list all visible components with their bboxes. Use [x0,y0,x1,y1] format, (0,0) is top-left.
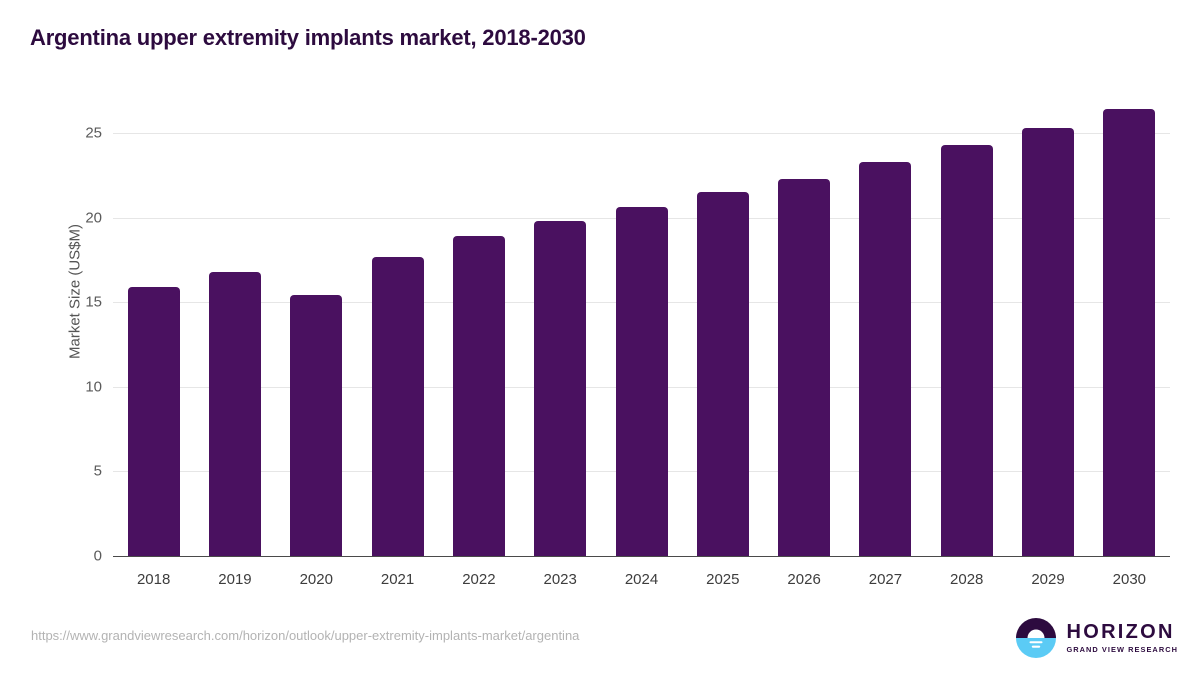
bar-2021[interactable] [372,257,424,556]
x-axis-tick-label-2026: 2026 [787,571,820,588]
bar-2027[interactable] [859,162,911,556]
bar-2023[interactable] [534,221,586,556]
x-axis-tick-label-2018: 2018 [137,571,170,588]
x-axis-tick-label-2020: 2020 [300,571,333,588]
bar-2018[interactable] [128,287,180,556]
x-axis-tick-label-2023: 2023 [544,571,577,588]
x-axis-tick-label-2028: 2028 [950,571,983,588]
x-axis-tick-label-2030: 2030 [1113,571,1146,588]
y-axis-tick-label: 20 [68,209,102,226]
horizon-logo-subtitle: GRAND VIEW RESEARCH [1066,646,1178,653]
y-axis-tick-label: 10 [68,378,102,395]
x-axis-tick-label-2025: 2025 [706,571,739,588]
x-axis-tick-label-2027: 2027 [869,571,902,588]
bar-2026[interactable] [778,179,830,556]
horizon-logo: HORIZON GRAND VIEW RESEARCH [1015,617,1178,659]
x-axis-tick-label-2024: 2024 [625,571,658,588]
bar-2022[interactable] [453,236,505,556]
horizon-logo-text: HORIZON GRAND VIEW RESEARCH [1066,622,1178,653]
y-axis-tick-label: 25 [68,125,102,142]
chart-page: Argentina upper extremity implants marke… [0,0,1200,675]
x-axis-tick-label-2019: 2019 [218,571,251,588]
bar-2019[interactable] [209,272,261,556]
horizon-mark-icon [1015,617,1057,659]
y-axis-tick-label: 5 [68,463,102,480]
x-axis-tick-label-2021: 2021 [381,571,414,588]
x-axis-tick-label-2022: 2022 [462,571,495,588]
bar-2028[interactable] [941,145,993,556]
bar-2025[interactable] [697,192,749,556]
x-axis-tick-label-2029: 2029 [1031,571,1064,588]
y-axis-tick-label: 0 [68,548,102,565]
y-axis-tick-label: 15 [68,294,102,311]
source-url[interactable]: https://www.grandviewresearch.com/horizo… [31,628,579,643]
bar-2029[interactable] [1022,128,1074,556]
bar-2030[interactable] [1103,109,1155,556]
horizon-logo-title: HORIZON [1066,622,1178,642]
bar-2020[interactable] [290,295,342,556]
chart-plot-area: Market Size (US$M) 0510152025 2018201920… [0,0,1200,675]
bar-2024[interactable] [616,207,668,556]
